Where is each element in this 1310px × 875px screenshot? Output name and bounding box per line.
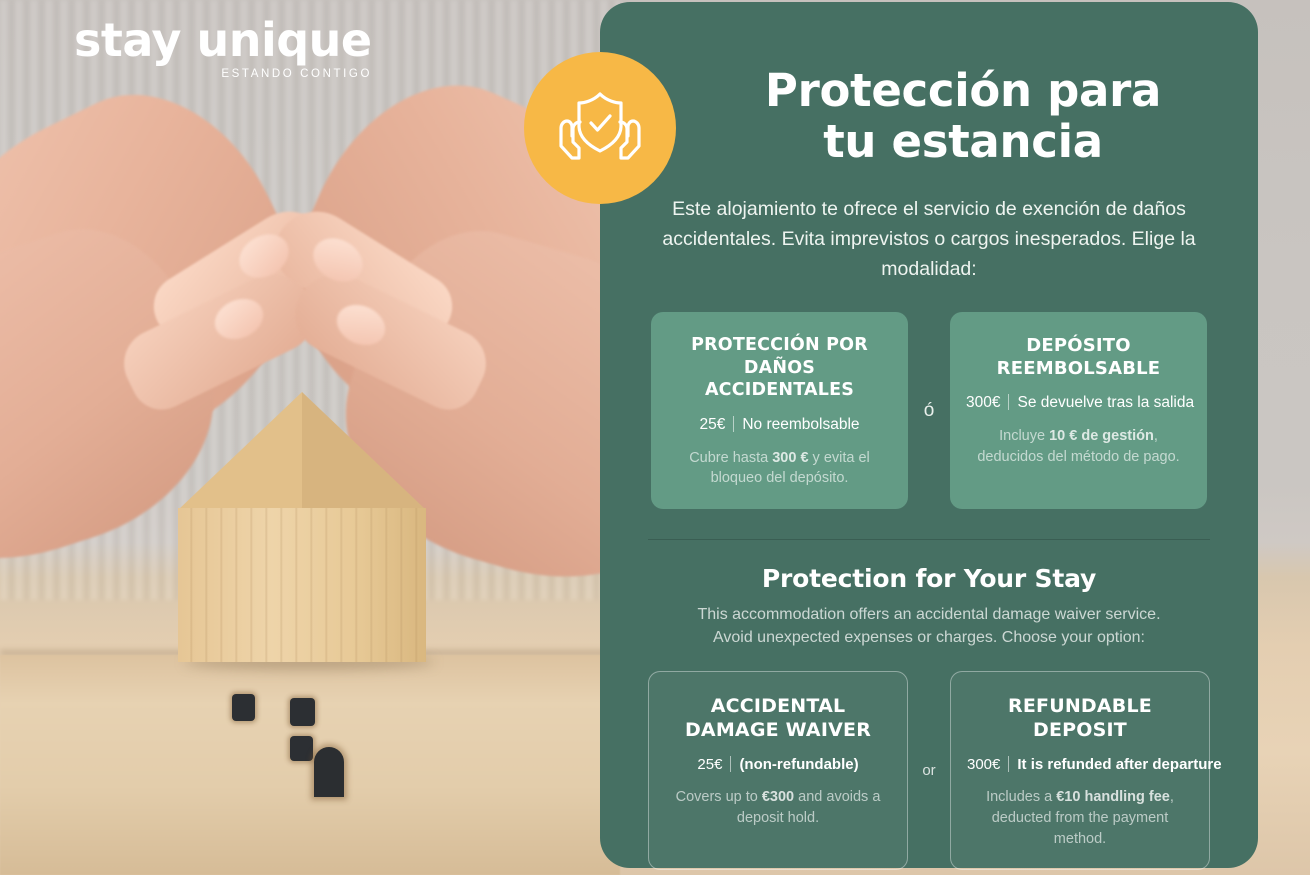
option-note-es-0: Cubre hasta 300 € y evita el bloqueo del…: [667, 448, 892, 489]
option-price-amount: 25€: [697, 756, 722, 773]
option-title-es-1: DEPÓSITO REEMBOLSABLE: [966, 334, 1191, 380]
protection-badge: [524, 52, 676, 204]
note-prefix: Incluye: [999, 428, 1049, 444]
price-divider: [1008, 756, 1009, 772]
option-price-terms: It is refunded after departure: [1017, 756, 1221, 773]
house-wood-grain: [178, 508, 426, 662]
option-card-accidental-damage-es[interactable]: PROTECCIÓN POR DAÑOS ACCIDENTALES 25€No …: [651, 312, 908, 508]
option-price-terms: Se devuelve tras la salida: [1017, 394, 1194, 411]
option-card-refundable-deposit-en[interactable]: REFUNDABLE DEPOSIT 300€It is refunded af…: [950, 671, 1210, 870]
option-separator-es: ó: [908, 312, 950, 508]
note-prefix: Covers up to: [676, 789, 762, 805]
option-price-en-1: 300€It is refunded after departure: [967, 756, 1193, 773]
option-price-amount: 25€: [699, 416, 725, 433]
option-card-accidental-damage-en[interactable]: ACCIDENTAL DAMAGE WAIVER 25€(non-refunda…: [648, 671, 908, 870]
options-row-es: PROTECCIÓN POR DAÑOS ACCIDENTALES 25€No …: [648, 312, 1210, 508]
option-title-en-1: REFUNDABLE DEPOSIT: [967, 694, 1193, 743]
wooden-toy-house: [178, 392, 426, 662]
option-price-es-0: 25€No reembolsable: [667, 416, 892, 434]
note-bold: €10 handling fee: [1056, 789, 1170, 805]
wooden-tabletop: [0, 655, 620, 875]
option-title-line2: REEMBOLSABLE: [997, 358, 1161, 379]
page-title: Protección para tu estancia: [648, 2, 1210, 168]
brand-logo: stay unique ESTANDO CONTIGO: [74, 16, 374, 80]
option-price-en-0: 25€(non-refundable): [665, 756, 891, 773]
price-divider: [730, 756, 731, 772]
option-title-line2: DAÑOS ACCIDENTALES: [705, 358, 854, 400]
option-card-refundable-deposit-es[interactable]: DEPÓSITO REEMBOLSABLE 300€Se devuelve tr…: [950, 312, 1207, 508]
house-window-left: [232, 694, 255, 721]
option-title-line2: DAMAGE WAIVER: [685, 719, 871, 741]
note-prefix: Cubre hasta: [689, 450, 772, 466]
options-row-en: ACCIDENTAL DAMAGE WAIVER 25€(non-refunda…: [648, 671, 1210, 870]
house-window-middle: [290, 698, 315, 726]
note-bold: 300 €: [772, 450, 808, 466]
intro-paragraph-en: This accommodation offers an accidental …: [694, 603, 1164, 649]
option-title-es-0: PROTECCIÓN POR DAÑOS ACCIDENTALES: [667, 334, 892, 401]
section-divider: [648, 539, 1210, 540]
option-title-line1: ACCIDENTAL: [711, 695, 846, 717]
house-window-lower: [290, 736, 313, 761]
option-note-en-1: Includes a €10 handling fee, deducted fr…: [967, 787, 1193, 849]
note-prefix: Includes a: [986, 789, 1056, 805]
price-divider: [733, 416, 734, 432]
option-title-line2: DEPOSIT: [1033, 719, 1127, 741]
house-roof-shade: [302, 392, 426, 510]
option-title-line1: REFUNDABLE: [1008, 695, 1152, 717]
house-body: [178, 508, 426, 662]
note-bold: €300: [762, 789, 794, 805]
house-door: [314, 747, 344, 797]
shield-check-in-hands-icon: [552, 80, 648, 176]
section-title-en: Protection for Your Stay: [648, 564, 1210, 593]
option-price-amount: 300€: [967, 756, 1000, 773]
option-title-line1: PROTECCIÓN POR: [691, 335, 868, 355]
option-price-terms: (non-refundable): [739, 756, 858, 773]
promo-banner: stay unique ESTANDO CONTIGO Protección p…: [0, 0, 1310, 875]
price-divider: [1008, 394, 1009, 410]
note-bold: 10 € de gestión: [1049, 428, 1154, 444]
brand-tagline: ESTANDO CONTIGO: [74, 68, 374, 80]
option-title-en-0: ACCIDENTAL DAMAGE WAIVER: [665, 694, 891, 743]
intro-paragraph-es: Este alojamiento te ofrece el servicio d…: [649, 194, 1209, 285]
info-panel: Protección para tu estancia Este alojami…: [600, 2, 1258, 868]
option-note-en-0: Covers up to €300 and avoids a deposit h…: [665, 787, 891, 828]
option-price-terms: No reembolsable: [742, 416, 859, 433]
page-title-line1: Protección para: [765, 64, 1161, 117]
option-price-amount: 300€: [966, 394, 1000, 411]
page-title-line2: tu estancia: [823, 115, 1103, 168]
brand-name: stay unique: [74, 16, 374, 64]
option-price-es-1: 300€Se devuelve tras la salida: [966, 394, 1191, 412]
option-separator-en: or: [908, 671, 950, 870]
option-title-line1: DEPÓSITO: [1026, 335, 1131, 356]
option-note-es-1: Incluye 10 € de gestión, deducidos del m…: [966, 426, 1191, 467]
